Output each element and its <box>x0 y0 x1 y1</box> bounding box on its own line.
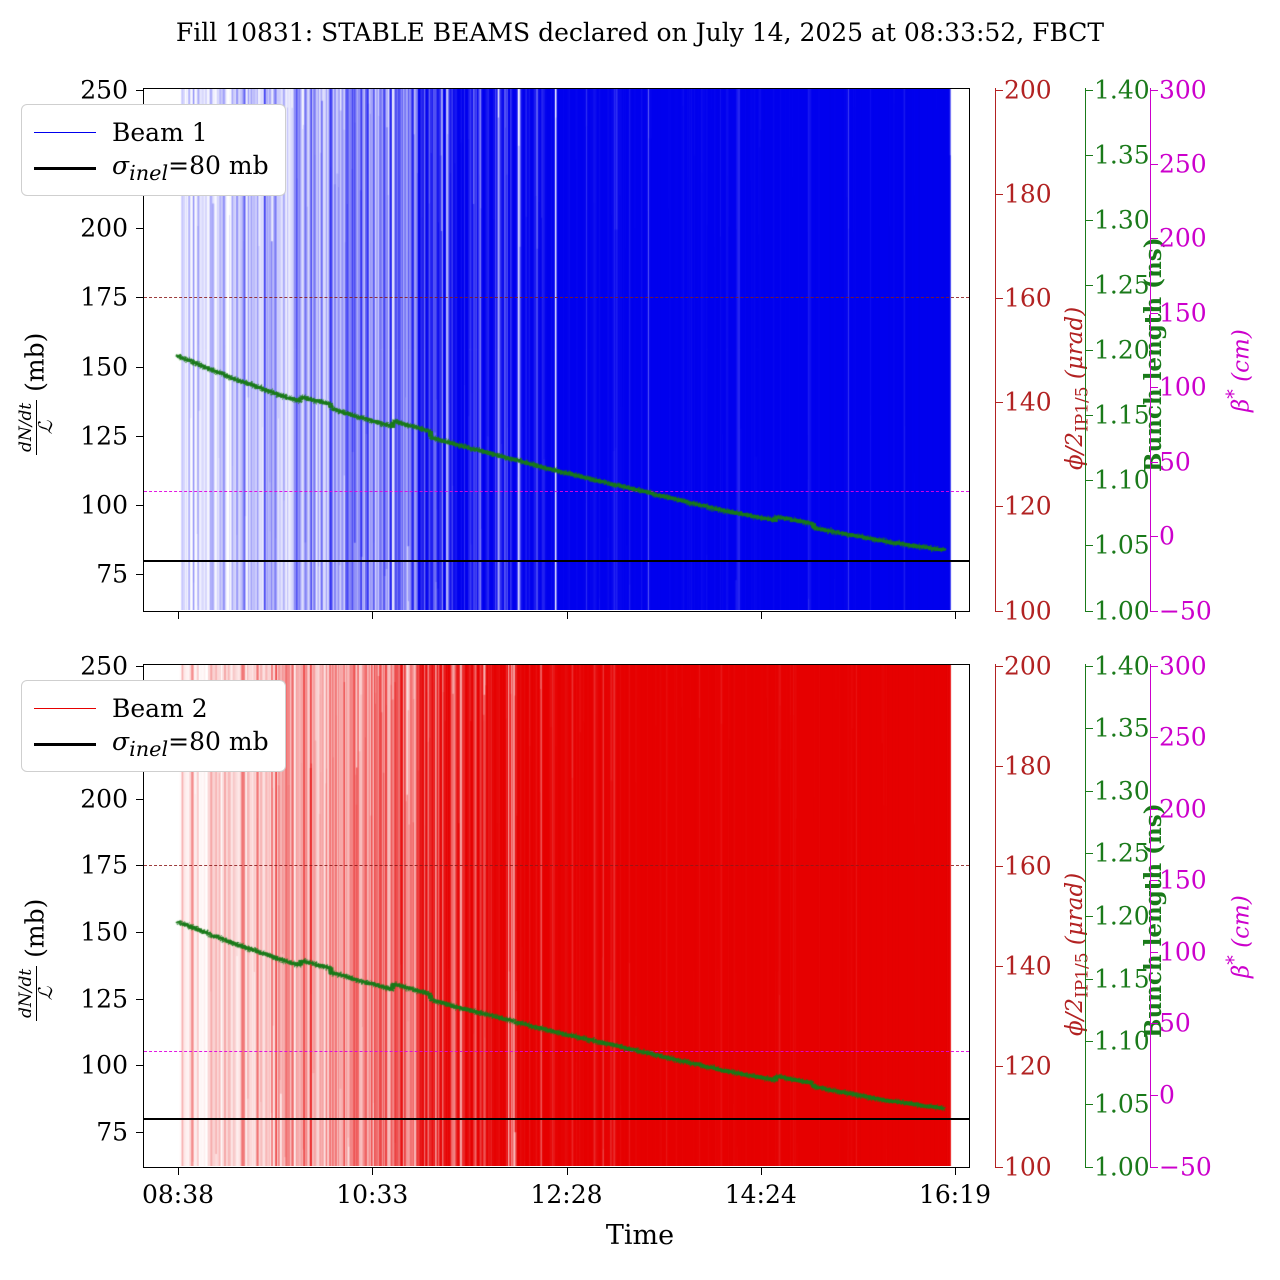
beam1-line-swatch <box>34 132 96 133</box>
bunch-length-axis-tick <box>1085 666 1093 667</box>
left-tick-label: 250 <box>0 651 128 680</box>
phase-axis-title: ϕ/2IP1/5 (μrad) <box>1062 307 1093 470</box>
bunch-length-axis-tick <box>1085 979 1093 980</box>
betastar-axis-tick-label: 100 <box>1159 373 1207 402</box>
betastar-axis-tick <box>1150 880 1158 881</box>
bunch-length-axis-tick-label: 1.00 <box>1094 596 1150 625</box>
betastar-axis-tick-label: 100 <box>1159 937 1207 966</box>
x-tick-label: 08:38 <box>142 1180 214 1209</box>
bunch-length-title-text: Bunch length (ns) <box>1140 803 1167 1038</box>
betastar-axis-tick <box>1150 164 1158 165</box>
beam1-legend: Beam 1 σinel=80 mb <box>21 104 286 196</box>
x-tick-label: 14:24 <box>725 1180 797 1209</box>
bunch-length-axis-tick <box>1085 90 1093 91</box>
bunch-length-axis-tick <box>1085 1104 1093 1105</box>
betastar-axis-tick-label: 250 <box>1159 149 1207 178</box>
sigma-value-top: =80 mb <box>168 151 268 180</box>
legend-label-beam1: Beam 1 <box>112 118 208 147</box>
left-tick-mark <box>136 1132 144 1133</box>
bunch-length-axis-tick <box>1085 155 1093 156</box>
beta-star-superscript: * <box>1222 955 1245 965</box>
legend-row-sigma-bot: σinel=80 mb <box>34 726 269 762</box>
betastar-axis-tick <box>1150 666 1158 667</box>
bunch-length-axis-tick-label: 1.05 <box>1094 1089 1150 1118</box>
betastar-axis <box>1150 664 1151 1168</box>
x-tick-label: 16:19 <box>919 1180 991 1209</box>
betastar-axis-tick <box>1150 737 1158 738</box>
left-axis-denominator: ℒ <box>37 966 57 1021</box>
bunch-length-axis-tick <box>1085 415 1093 416</box>
bunch-length-axis-tick <box>1085 545 1093 546</box>
phase-axis-tick <box>995 1066 1003 1067</box>
phase-axis-tick-label: 100 <box>1004 596 1052 625</box>
betastar-axis-tick <box>1150 90 1158 91</box>
bunch-length-axis-tick <box>1085 480 1093 481</box>
betastar-axis-tick-label: 150 <box>1159 298 1207 327</box>
left-tick-mark <box>136 574 144 575</box>
x-tick-mark-top <box>567 612 568 619</box>
beam2-line-swatch <box>34 708 96 709</box>
betastar-axis-tick <box>1150 238 1158 239</box>
bunch-length-axis-tick <box>1085 285 1093 286</box>
sigma-symbol-top: σ <box>112 151 129 180</box>
betastar-axis-title: β* (cm) <box>1222 895 1255 978</box>
bunch-length-axis-tick <box>1085 1167 1093 1168</box>
betastar-axis-tick-label: 200 <box>1159 224 1207 253</box>
betastar-axis-tick-label: 50 <box>1159 447 1191 476</box>
bunch-length-axis-tick <box>1085 220 1093 221</box>
left-axis-title: dN/dtℒ (mb) <box>18 333 57 455</box>
left-tick-label: 200 <box>0 214 128 243</box>
betastar-axis-tick <box>1150 1167 1158 1168</box>
bunch-length-axis-tick-label: 1.40 <box>1094 75 1150 104</box>
left-tick-mark <box>136 1065 144 1066</box>
betastar-axis-tick <box>1150 462 1158 463</box>
betastar-axis-tick-label: 200 <box>1159 794 1207 823</box>
legend-label-sigma-top: σinel=80 mb <box>112 151 269 185</box>
phase-axis-tick-label: 140 <box>1004 952 1052 981</box>
sigma-subscript-top: inel <box>129 161 168 185</box>
x-tick-label: 10:33 <box>336 1180 408 1209</box>
sigma-value-bot: =80 mb <box>168 727 268 756</box>
page-title: Fill 10831: STABLE BEAMS declared on Jul… <box>0 18 1280 47</box>
bunch-length-axis-tick <box>1085 728 1093 729</box>
phase-axis-tick-label: 100 <box>1004 1152 1052 1181</box>
phi-subscript: IP1/5 <box>1073 386 1093 432</box>
left-tick-mark <box>136 228 144 229</box>
phase-axis-tick <box>995 506 1003 507</box>
phi-subscript: IP1/5 <box>1073 952 1093 998</box>
left-tick-mark <box>136 367 144 368</box>
bunch-length-axis-tick-label: 1.30 <box>1094 776 1150 805</box>
x-axis-title: Time <box>0 1220 1280 1251</box>
phase-axis-tick <box>995 402 1003 403</box>
left-tick-mark <box>136 505 144 506</box>
phase-axis-tick-label: 160 <box>1004 283 1052 312</box>
left-tick-label: 100 <box>0 491 128 520</box>
phase-axis-tick-label: 180 <box>1004 179 1052 208</box>
legend-row-sigma-top: σinel=80 mb <box>34 150 269 186</box>
betastar-axis-tick <box>1150 313 1158 314</box>
bunch-length-axis-tick-label: 1.35 <box>1094 140 1150 169</box>
x-tick-label: 12:28 <box>530 1180 602 1209</box>
betastar-axis-title: β* (cm) <box>1222 329 1255 412</box>
phase-axis-tick <box>995 611 1003 612</box>
betastar-axis-tick <box>1150 536 1158 537</box>
left-axis-unit: (mb) <box>20 899 49 966</box>
bunch-length-axis-tick-label: 1.05 <box>1094 531 1150 560</box>
left-tick-mark <box>136 297 144 298</box>
beta-unit: (cm) <box>1229 895 1255 955</box>
phase-axis <box>995 88 996 612</box>
betastar-axis-tick-label: 250 <box>1159 723 1207 752</box>
sigma-symbol-bot: σ <box>112 727 129 756</box>
betastar-axis-tick <box>1150 611 1158 612</box>
sigma-subscript-bot: inel <box>129 737 168 761</box>
legend-row-beam2: Beam 2 <box>34 690 269 726</box>
phase-axis-tick-label: 200 <box>1004 651 1052 680</box>
left-tick-label: 75 <box>0 1117 128 1146</box>
betastar-axis-tick-label: −50 <box>1159 596 1212 625</box>
sigma-line-swatch-bot <box>34 743 96 746</box>
left-axis-title: dN/dtℒ (mb) <box>18 899 57 1021</box>
bunch-length-axis-title: Bunch length (ns) <box>1140 803 1167 1038</box>
phase-axis-tick <box>995 298 1003 299</box>
phase-axis-tick <box>995 90 1003 91</box>
beta-symbol: β <box>1229 965 1255 978</box>
x-tick-mark-top <box>372 612 373 619</box>
sigma-line-swatch-top <box>34 167 96 170</box>
betastar-axis-tick <box>1150 387 1158 388</box>
x-tick-mark <box>178 1168 179 1175</box>
phase-axis-tick <box>995 966 1003 967</box>
left-tick-label: 200 <box>0 784 128 813</box>
betastar-axis-tick <box>1150 952 1158 953</box>
bunch-length-axis-tick-label: 1.00 <box>1094 1152 1150 1181</box>
bunch-length-axis-tick <box>1085 791 1093 792</box>
left-axis-denominator: ℒ <box>37 400 57 455</box>
phase-axis <box>995 664 996 1168</box>
beta-star-superscript: * <box>1222 389 1245 399</box>
phase-axis-tick-label: 200 <box>1004 75 1052 104</box>
betastar-axis-tick-label: 50 <box>1159 1009 1191 1038</box>
left-tick-label: 250 <box>0 75 128 104</box>
phase-axis-title: ϕ/2IP1/5 (μrad) <box>1062 873 1093 1036</box>
bunch-length-title-text: Bunch length (ns) <box>1140 237 1167 472</box>
phase-axis-tick <box>995 1167 1003 1168</box>
left-tick-mark <box>136 436 144 437</box>
beam2-legend: Beam 2 σinel=80 mb <box>21 680 286 772</box>
x-tick-mark-top <box>955 612 956 619</box>
beta-unit: (cm) <box>1229 329 1255 389</box>
x-tick-mark <box>955 1168 956 1175</box>
x-tick-mark <box>567 1168 568 1175</box>
phase-axis-tick-label: 160 <box>1004 851 1052 880</box>
left-axis-unit: (mb) <box>20 333 49 400</box>
bunch-length-axis-tick-label: 1.40 <box>1094 651 1150 680</box>
bunch-length-axis-tick <box>1085 853 1093 854</box>
betastar-axis <box>1150 88 1151 612</box>
bunch-length-axis-tick <box>1085 350 1093 351</box>
x-tick-mark-top <box>178 612 179 619</box>
bunch-length-axis-title: Bunch length (ns) <box>1140 237 1167 472</box>
phase-axis-tick-label: 120 <box>1004 492 1052 521</box>
x-tick-mark <box>761 1168 762 1175</box>
betastar-axis-tick <box>1150 1023 1158 1024</box>
beta-symbol: β <box>1229 399 1255 412</box>
bunch-length-axis-tick-label: 1.30 <box>1094 205 1150 234</box>
bunch-length-axis-tick <box>1085 1041 1093 1042</box>
left-tick-mark <box>136 999 144 1000</box>
betastar-axis-tick-label: 0 <box>1159 1080 1175 1109</box>
phase-axis-tick-label: 140 <box>1004 388 1052 417</box>
left-axis-fraction: dN/dtℒ <box>18 400 57 455</box>
left-tick-mark <box>136 932 144 933</box>
left-tick-mark <box>136 865 144 866</box>
phase-axis-tick <box>995 766 1003 767</box>
phase-axis-tick <box>995 866 1003 867</box>
betastar-axis-tick-label: −50 <box>1159 1152 1212 1181</box>
betastar-axis-tick-label: 300 <box>1159 75 1207 104</box>
left-tick-label: 175 <box>0 283 128 312</box>
bunch-length-axis-tick <box>1085 611 1093 612</box>
left-tick-label: 175 <box>0 851 128 880</box>
phase-axis-tick <box>995 194 1003 195</box>
legend-label-beam2: Beam 2 <box>112 694 208 723</box>
left-tick-mark <box>136 666 144 667</box>
betastar-axis-tick-label: 150 <box>1159 866 1207 895</box>
left-axis-fraction: dN/dtℒ <box>18 966 57 1021</box>
sigma-inel-line-top <box>144 560 969 562</box>
phase-axis-tick-label: 120 <box>1004 1052 1052 1081</box>
betastar-axis-tick-label: 300 <box>1159 651 1207 680</box>
legend-label-sigma-bot: σinel=80 mb <box>112 727 269 761</box>
left-tick-mark <box>136 90 144 91</box>
bunch-length-axis-tick <box>1085 916 1093 917</box>
legend-row-beam1: Beam 1 <box>34 114 269 150</box>
bunch-length-axis-tick-label: 1.35 <box>1094 714 1150 743</box>
betastar-axis-tick-label: 0 <box>1159 522 1175 551</box>
left-tick-mark <box>136 799 144 800</box>
phase-axis-tick-label: 180 <box>1004 751 1052 780</box>
betastar-axis-tick <box>1150 1095 1158 1096</box>
x-tick-mark-top <box>761 612 762 619</box>
phase-axis-tick <box>995 666 1003 667</box>
left-tick-label: 75 <box>0 560 128 589</box>
left-tick-label: 100 <box>0 1051 128 1080</box>
betastar-axis-tick <box>1150 809 1158 810</box>
x-tick-mark <box>372 1168 373 1175</box>
sigma-inel-line-bot <box>144 1118 969 1120</box>
